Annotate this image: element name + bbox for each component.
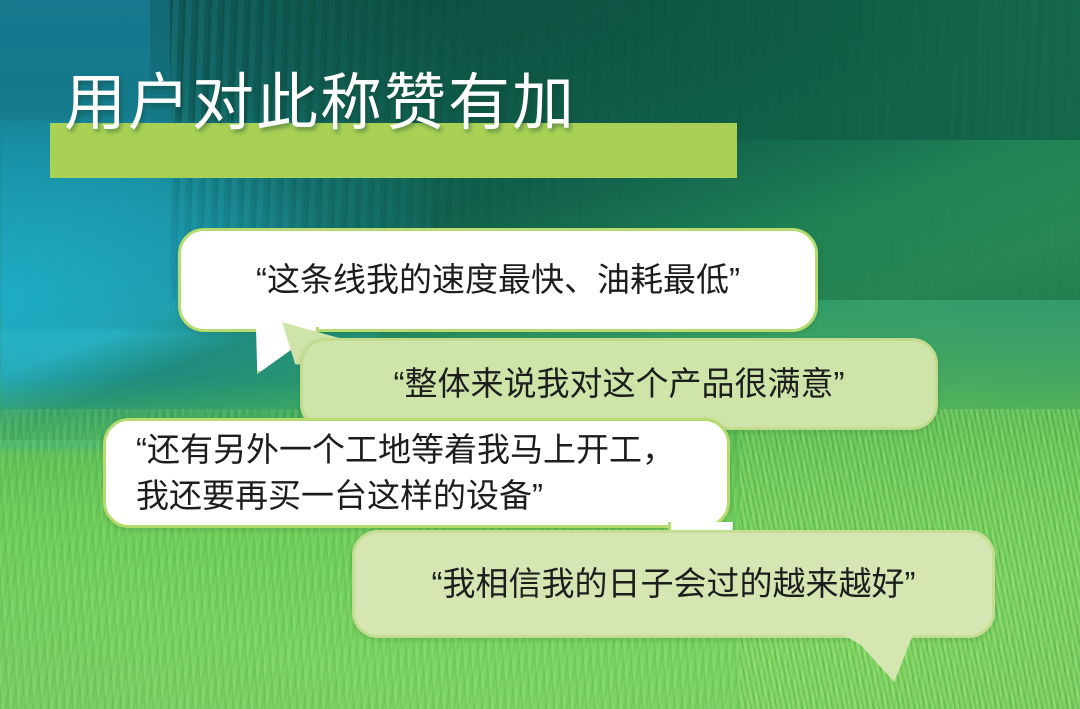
quote-text: “这条线我的速度最快、油耗最低” xyxy=(181,257,815,303)
poster-root: 用户对此称赞有加 “这条线我的速度最快、油耗最低” “整体来说我对这个产品很满意… xyxy=(0,0,1080,709)
title-text: 用户对此称赞有加 xyxy=(64,60,576,148)
page-title: 用户对此称赞有加 xyxy=(50,60,810,170)
testimonial-bubble-1: “这条线我的速度最快、油耗最低” xyxy=(178,228,818,332)
bubble-body: “这条线我的速度最快、油耗最低” xyxy=(178,228,818,332)
testimonial-bubble-2: “整体来说我对这个产品很满意” xyxy=(300,338,938,430)
bubble-body: “还有另外一个工地等着我马上开工， 我还要再买一台这样的设备” xyxy=(103,418,730,528)
quote-text: “我相信我的日子会过的越来越好” xyxy=(355,561,992,607)
quote-text: “整体来说我对这个产品很满意” xyxy=(303,361,935,407)
testimonial-bubble-3: “还有另外一个工地等着我马上开工， 我还要再买一台这样的设备” xyxy=(103,418,730,528)
testimonial-bubble-4: “我相信我的日子会过的越来越好” xyxy=(352,530,995,638)
bubble-body: “整体来说我对这个产品很满意” xyxy=(300,338,938,430)
quote-text: “还有另外一个工地等着我马上开工， 我还要再买一台这样的设备” xyxy=(106,427,727,519)
bubble-body: “我相信我的日子会过的越来越好” xyxy=(352,530,995,638)
